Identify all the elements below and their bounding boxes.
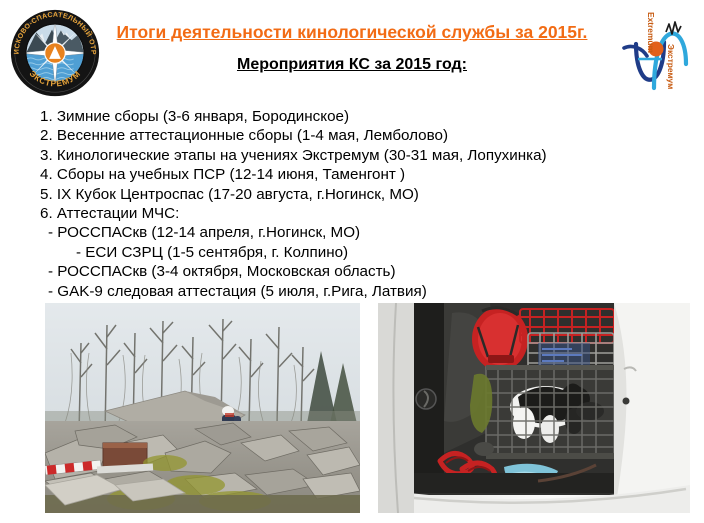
dog-crate [486,365,614,459]
list-item: - ЕСИ СЗРЦ (1-5 сентября, г. Колпино) [40,243,660,262]
list-item: - РОССПАСкв (12-14 апреля, г.Ногинск, МО… [40,223,660,242]
list-item: - GAK-9 следовая аттестация (5 июля, г.Р… [40,282,660,301]
pso-extremum-emblem-logo: ПОИСКОВО-СПАСАТЕЛЬНЫЙ ОТРЯД ЭКСТРЕМУМ [6,6,104,102]
photo-rubble-search-site [45,303,360,513]
emblem-svg: ПОИСКОВО-СПАСАТЕЛЬНЫЙ ОТРЯД ЭКСТРЕМУМ [6,6,104,102]
boot-latch-icon [623,398,630,405]
blue-label [538,343,590,365]
page-title: Итоги деятельности кинологической службы… [0,22,704,43]
list-item: 5. IX Кубок Центроспас (17-20 августа, г… [40,185,660,204]
list-item: 1. Зимние сборы (3-6 января, Бородинское… [40,107,660,126]
dog-crate-photo-svg [378,303,690,513]
extremum-logo-svg: Extremum Экстремум [616,4,696,100]
page-subtitle: Мероприятия КС за 2015 год: [0,56,704,74]
list-item: 3. Кинологические этапы на учениях Экстр… [40,146,660,165]
list-item: 6. Аттестации МЧС: [40,204,660,223]
list-item: - РОССПАСкв (3-4 октября, Московская обл… [40,262,660,281]
list-item: 4. Сборы на учебных ПСР (12-14 июня, Там… [40,165,660,184]
rubble-photo-svg [45,303,360,513]
list-item: 2. Весенние аттестационные сборы (1-4 ма… [40,126,660,145]
photo-dog-in-car-crate [378,303,690,513]
events-list: 1. Зимние сборы (3-6 января, Бородинское… [40,107,660,301]
extremum-wordmark-logo: Extremum Экстремум [616,4,696,100]
